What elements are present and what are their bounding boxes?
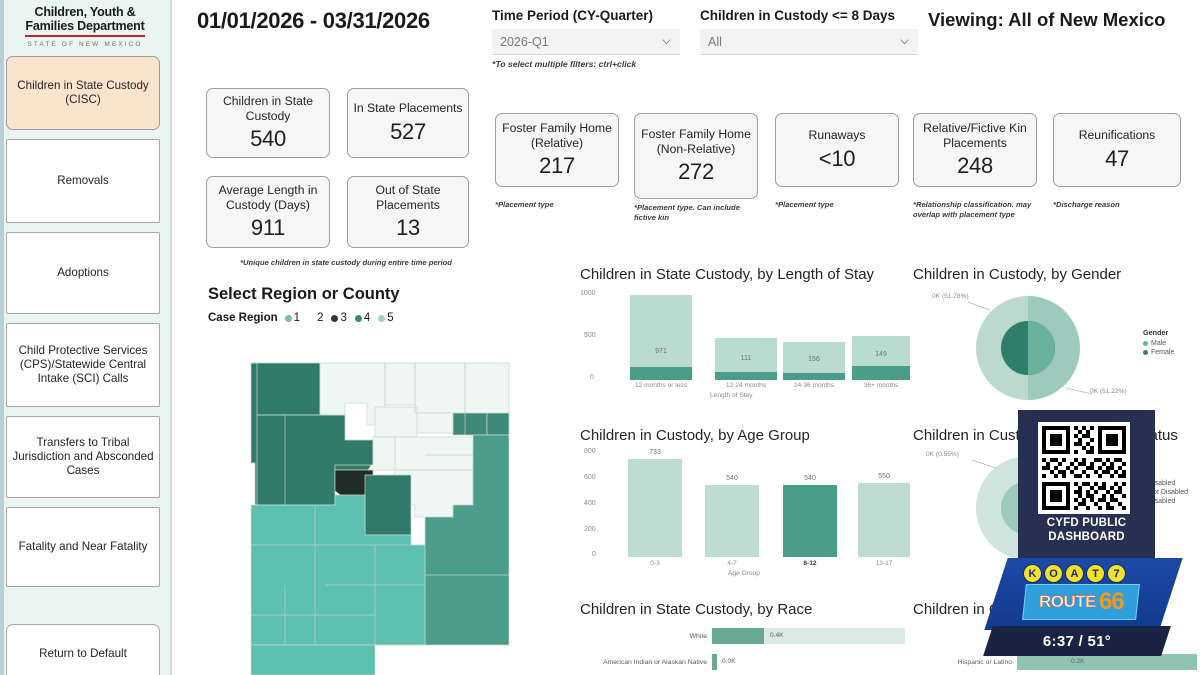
sidebar-item-label: Child Protective Services (CPS)/Statewid…: [10, 344, 156, 386]
kpi-title: Foster Family Home (Non-Relative): [635, 127, 757, 156]
kpi-children-in-state-custody[interactable]: Children in State Custody 540: [206, 88, 330, 158]
station-letter-7: 7: [1107, 564, 1126, 583]
kpi-in-state-placements[interactable]: In State Placements 527: [347, 88, 469, 158]
legend-label: Male: [1151, 340, 1166, 347]
map-county-torrance[interactable]: [365, 475, 411, 535]
qr-code[interactable]: [1038, 422, 1130, 514]
sidebar-item-adoptions[interactable]: Adoptions: [6, 232, 160, 314]
kpi-note: *Placement type: [495, 200, 619, 210]
x-category-label: 12-24 months: [708, 382, 784, 389]
chart-title-race: Children in State Custody, by Race: [580, 601, 812, 618]
legend-swatch-icon: [285, 315, 292, 322]
y-tick-label: 0: [590, 374, 594, 381]
y-tick-label: 200: [584, 526, 596, 533]
sidebar-item-label: Adoptions: [57, 266, 109, 280]
sidebar-item-removals[interactable]: Removals: [6, 139, 160, 223]
qr-panel: CYFD PUBLIC DASHBOARD: [1018, 410, 1155, 566]
bar-age-4-7[interactable]: [705, 485, 759, 557]
bar-value-label: 540: [783, 475, 837, 482]
bar-value-label: 149: [852, 351, 910, 358]
y-tick-label: 400: [584, 500, 596, 507]
bar-value-label: 733: [628, 449, 682, 456]
kpi-title: Children in State Custody: [207, 94, 329, 123]
time-temp-text: 6:37 / 51°: [988, 626, 1166, 656]
legend-label: 1: [294, 312, 300, 324]
route-word: ROUTE: [1039, 592, 1096, 612]
chart-title-length-of-stay: Children in State Custody, by Length of …: [580, 266, 874, 283]
kpi-value: 527: [390, 119, 426, 145]
kpi-value: 540: [250, 126, 286, 152]
x-category-label: 0-3: [628, 560, 682, 567]
x-category-label: 12 months or less: [620, 382, 702, 389]
map-section-title: Select Region or County: [208, 285, 400, 304]
bar-value-label: 540: [705, 475, 759, 482]
viewing-scope-title: Viewing: All of New Mexico: [928, 9, 1165, 31]
x-category-label: 36+ months: [846, 382, 916, 389]
bar-value-label: 111: [715, 355, 777, 362]
kpi-reunifications[interactable]: Reunifications 47: [1053, 113, 1181, 187]
map-county-colfax[interactable]: [415, 363, 465, 413]
map-county-mora[interactable]: [417, 413, 453, 433]
race-bar-fill: [712, 654, 717, 670]
bar-highlight-12-24-months: [715, 372, 777, 380]
station-letter-a: A: [1065, 564, 1084, 583]
qr-caption-line1: CYFD PUBLIC: [1047, 517, 1127, 529]
map-svg: [225, 345, 525, 675]
kpi-title: Average Length in Custody (Days): [207, 183, 329, 212]
legend-item-male[interactable]: Male: [1143, 340, 1174, 347]
legend-item-female[interactable]: Female: [1143, 349, 1174, 356]
chart-race[interactable]: White 0.4K American Indian or Alaskan Na…: [580, 628, 910, 675]
station-letter-o: O: [1044, 564, 1063, 583]
legend-swatch-icon: [331, 315, 338, 322]
station-logo-banner: K O A T 7 ROUTE 66: [984, 558, 1182, 630]
return-to-default-button[interactable]: Return to Default: [6, 624, 160, 675]
kpi-runaways[interactable]: Runaways <10: [775, 113, 899, 187]
kpi-footnote: *Unique children in state custody during…: [206, 258, 486, 268]
x-axis-title: Length of Stay: [710, 392, 753, 399]
y-tick-label: 600: [584, 474, 596, 481]
map-legend-item-5[interactable]: 5: [378, 312, 393, 324]
pie-label-disabled: 0K (0.55%): [926, 451, 959, 458]
custody-8days-label: Children in Custody <= 8 Days: [700, 8, 918, 23]
pie-label-male: 0K (51.78%): [932, 293, 969, 300]
sidebar-item-label: Transfers to Tribal Jurisdiction and Abs…: [10, 436, 156, 478]
kpi-foster-family-home-non-relative[interactable]: Foster Family Home (Non-Relative) 272: [634, 113, 758, 199]
kpi-note: *Discharge reason: [1053, 200, 1183, 210]
map-county-san-juan[interactable]: [251, 363, 320, 415]
kpi-relative-fictive-kin-placements[interactable]: Relative/Fictive Kin Placements 248: [913, 113, 1037, 187]
pie-label-female: 0K (51.22%): [1090, 388, 1127, 395]
bar-value-label: 971: [630, 348, 692, 355]
legend-label: 2: [317, 312, 323, 324]
chart-title-age-group: Children in Custody, by Age Group: [580, 427, 810, 444]
map-legend-item-3[interactable]: 3: [331, 312, 346, 324]
qr-caption-line2: DASHBOARD: [1048, 531, 1125, 543]
ethnicity-label: Hispanic or Latino: [913, 659, 1017, 666]
kpi-value: 911: [251, 215, 285, 241]
kpi-title: Reunifications: [1075, 128, 1160, 142]
agency-logo-title: Children, Youth & Families Department: [25, 6, 144, 37]
qr-caption: CYFD PUBLIC DASHBOARD: [1018, 516, 1155, 544]
leader-line: [972, 460, 996, 468]
x-category-label-selected: 8-12: [783, 560, 837, 567]
race-label: White: [580, 633, 712, 640]
chart-age-group[interactable]: 800 600 400 200 0 733 0-3 540 4-7 540 8-…: [580, 450, 910, 575]
broadcast-overlay: CYFD PUBLIC DASHBOARD K O A T 7 ROUTE 66: [1018, 410, 1200, 675]
chart-gender[interactable]: 0K (51.78%) 0K (51.22%) Gender Male Fema…: [950, 290, 1200, 415]
sidebar-nav: Children in State Custody (CISC) Removal…: [0, 52, 170, 675]
map-county-union-south[interactable]: [487, 413, 509, 435]
map-legend-item-4[interactable]: 4: [355, 312, 370, 324]
return-to-default-label: Return to Default: [39, 647, 127, 661]
sidebar-item-children-in-state-custody[interactable]: Children in State Custody (CISC): [6, 56, 160, 130]
time-period-value: 2026-Q1: [500, 35, 549, 49]
time-period-select[interactable]: 2026-Q1: [492, 29, 680, 55]
bar-age-0-3[interactable]: [628, 459, 682, 557]
y-tick-label: 800: [584, 448, 596, 455]
bar-value-label: 550: [858, 473, 910, 480]
leader-line: [968, 302, 990, 310]
y-tick-label: 1000: [580, 290, 596, 297]
sidebar-item-label: Removals: [57, 174, 109, 188]
kpi-title: In State Placements: [349, 101, 466, 115]
agency-logo: Children, Youth & Families Department ST…: [0, 0, 170, 52]
kpi-foster-family-home-relative[interactable]: Foster Family Home (Relative) 217: [495, 113, 619, 187]
sidebar: Children, Youth & Families Department ST…: [0, 0, 172, 675]
time-period-label: Time Period (CY-Quarter): [492, 8, 680, 23]
legend-swatch-icon: [378, 315, 385, 322]
kpi-note: *Placement type. Can include fictive kin: [634, 203, 758, 223]
map-legend: Case Region 1 2 3 4 5: [208, 312, 402, 324]
dashboard-root: Children, Youth & Families Department ST…: [0, 0, 1200, 675]
sidebar-item-label: Fatality and Near Fatality: [19, 540, 148, 554]
sidebar-item-label: Children in State Custody (CISC): [10, 79, 156, 107]
chart-length-of-stay[interactable]: 1000 500 0 971 12 months or less 111 12-…: [580, 292, 910, 397]
x-category-label: 13-17: [858, 560, 910, 567]
legend-swatch-icon: [355, 315, 362, 322]
legend-swatch-icon: [1143, 341, 1148, 346]
agency-logo-line1: Children, Youth &: [35, 5, 136, 19]
sidebar-spacer: [6, 596, 164, 624]
bar-highlight-36-plus-months: [852, 366, 910, 380]
legend-label: 4: [364, 312, 370, 324]
time-period-filter: Time Period (CY-Quarter) 2026-Q1 *To sel…: [492, 8, 680, 69]
race-bar-track: 0.0K: [712, 654, 905, 670]
new-mexico-county-map[interactable]: [225, 345, 525, 675]
kpi-value: <10: [819, 146, 855, 172]
agency-logo-subtitle: STATE OF NEW MEXICO: [8, 41, 162, 48]
legend-label: 3: [340, 312, 346, 324]
legend-title: Gender: [1143, 328, 1174, 337]
map-region-south[interactable]: [251, 645, 375, 675]
race-bar-fill: [712, 628, 764, 644]
gender-legend: Gender Male Female: [1143, 328, 1174, 358]
route-66-plate: ROUTE 66: [1022, 584, 1140, 620]
race-value-label: 0.4K: [770, 632, 784, 639]
kpi-title: Out of State Placements: [348, 183, 468, 212]
kpi-note: *Placement type: [775, 200, 899, 210]
x-category-label: 4-7: [705, 560, 759, 567]
kpi-note: *Relationship classification. may overla…: [913, 200, 1043, 220]
sidebar-item-cps-sci-calls[interactable]: Child Protective Services (CPS)/Statewid…: [6, 323, 160, 407]
y-tick-label: 500: [584, 332, 596, 339]
chevron-down-icon: [899, 36, 910, 47]
y-tick-label: 0: [592, 551, 596, 558]
custody-8days-select[interactable]: All: [700, 29, 918, 55]
legend-label: 5: [387, 312, 393, 324]
bar-age-8-12[interactable]: [783, 485, 837, 557]
station-logo-inner: K O A T 7 ROUTE 66: [996, 558, 1171, 630]
kpi-value: 47: [1105, 146, 1129, 172]
x-axis-title: Age Group: [728, 570, 760, 577]
race-row-american-indian[interactable]: American Indian or Alaskan Native 0.0K: [580, 654, 910, 670]
map-county-taos[interactable]: [385, 363, 415, 405]
race-label: American Indian or Alaskan Native: [580, 659, 712, 666]
race-bar-track: 0.4K: [712, 628, 905, 644]
route-number: 66: [1099, 588, 1124, 616]
sidebar-item-fatality[interactable]: Fatality and Near Fatality: [6, 507, 160, 587]
map-county-san-miguel[interactable]: [395, 437, 475, 470]
kpi-title: Foster Family Home (Relative): [496, 121, 618, 150]
legend-swatch-icon: [308, 315, 315, 322]
kpi-value: 272: [678, 159, 714, 185]
date-range-title: 01/01/2026 - 03/31/2026: [197, 8, 430, 34]
kpi-title: Runaways: [805, 128, 870, 142]
chart-title-gender: Children in Custody, by Gender: [913, 266, 1121, 283]
legend-label: Female: [1151, 349, 1174, 356]
bar-age-13-17[interactable]: [858, 483, 910, 557]
kpi-value: 217: [539, 153, 575, 179]
custody-8days-filter: Children in Custody <= 8 Days All: [700, 8, 918, 55]
kpi-title: Relative/Fictive Kin Placements: [914, 121, 1036, 150]
map-legend-item-2[interactable]: 2: [308, 312, 323, 324]
leader-line: [1066, 388, 1092, 394]
agency-logo-line2: Families Department: [25, 19, 144, 33]
legend-swatch-icon: [1143, 350, 1148, 355]
x-category-label: 24-36 months: [776, 382, 852, 389]
bar-value-label: 156: [783, 356, 845, 363]
kpi-value: 248: [957, 153, 993, 179]
station-letter-t: T: [1086, 564, 1105, 583]
sidebar-item-tribal-transfers[interactable]: Transfers to Tribal Jurisdiction and Abs…: [6, 416, 160, 498]
kpi-value: 13: [396, 215, 420, 241]
race-value-label: 0.0K: [722, 658, 736, 665]
map-legend-title: Case Region: [208, 312, 278, 324]
custody-8days-value: All: [708, 35, 722, 49]
bar-highlight-12-months-or-less: [630, 367, 692, 380]
map-county-harding[interactable]: [453, 413, 487, 435]
multi-filter-note: *To select multiple filters: ctrl+click: [492, 59, 680, 69]
kpi-average-length-in-custody[interactable]: Average Length in Custody (Days) 911: [206, 176, 330, 248]
qr-code-svg: [1038, 422, 1130, 514]
map-county-santa-fe[interactable]: [375, 407, 417, 437]
sidebar-edge-accent: [0, 0, 4, 675]
map-legend-item-1[interactable]: 1: [285, 312, 300, 324]
kpi-out-of-state-placements[interactable]: Out of State Placements 13: [347, 176, 469, 248]
bar-highlight-24-36-months: [783, 373, 845, 380]
race-row-white[interactable]: White 0.4K: [580, 628, 910, 644]
station-letter-k: K: [1023, 564, 1042, 583]
map-county-sandoval-strip[interactable]: [373, 437, 395, 470]
chevron-down-icon: [661, 36, 672, 47]
